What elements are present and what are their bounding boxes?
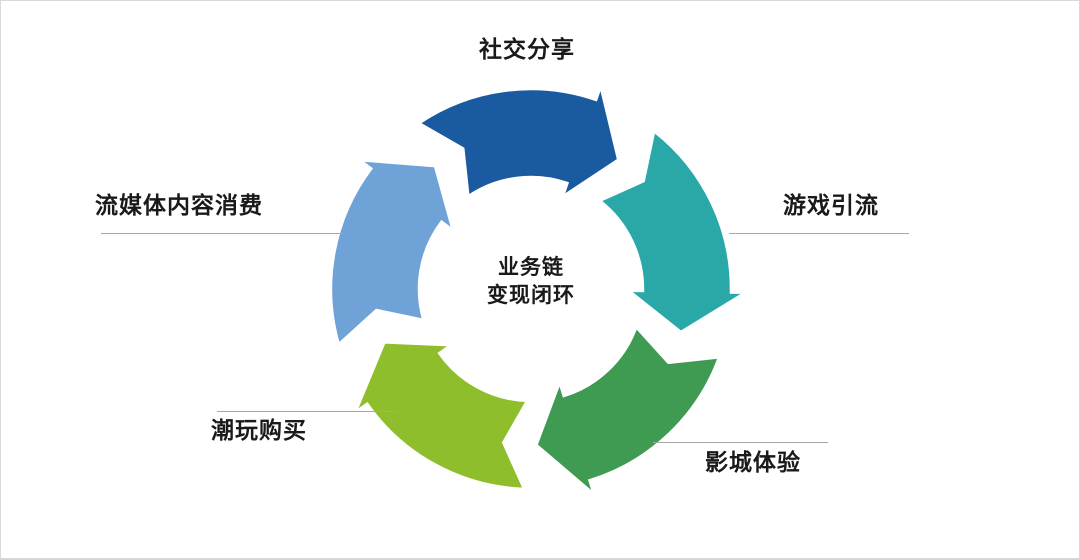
node-label-social-sharing[interactable]: 社交分享: [479, 37, 575, 63]
node-label-trendy-toy-purchase[interactable]: 潮玩购买: [211, 418, 307, 444]
leader-line-game-traffic: [729, 233, 909, 234]
leader-line-trendy-toy-purchase: [217, 411, 397, 412]
diagram-canvas: 社交分享 游戏引流 影城体验 潮玩购买 流媒体内容消费 业务链 变现闭环: [0, 0, 1080, 559]
center-caption-line2: 变现闭环: [431, 281, 631, 309]
center-caption: 业务链 变现闭环: [431, 253, 631, 310]
node-label-cinema-experience[interactable]: 影城体验: [705, 450, 801, 476]
center-caption-line1: 业务链: [431, 253, 631, 281]
node-label-game-traffic[interactable]: 游戏引流: [783, 193, 879, 219]
leader-line-cinema-experience: [653, 442, 828, 443]
cycle-segment-social-sharing[interactable]: [419, 87, 618, 197]
cycle-segment-cinema-experience[interactable]: [536, 327, 719, 493]
cycle-segment-trendy-toy-purchase[interactable]: [356, 342, 527, 489]
leader-line-streaming-content-consumption: [101, 233, 343, 234]
node-label-streaming-content-consumption[interactable]: 流媒体内容消费: [95, 193, 263, 219]
